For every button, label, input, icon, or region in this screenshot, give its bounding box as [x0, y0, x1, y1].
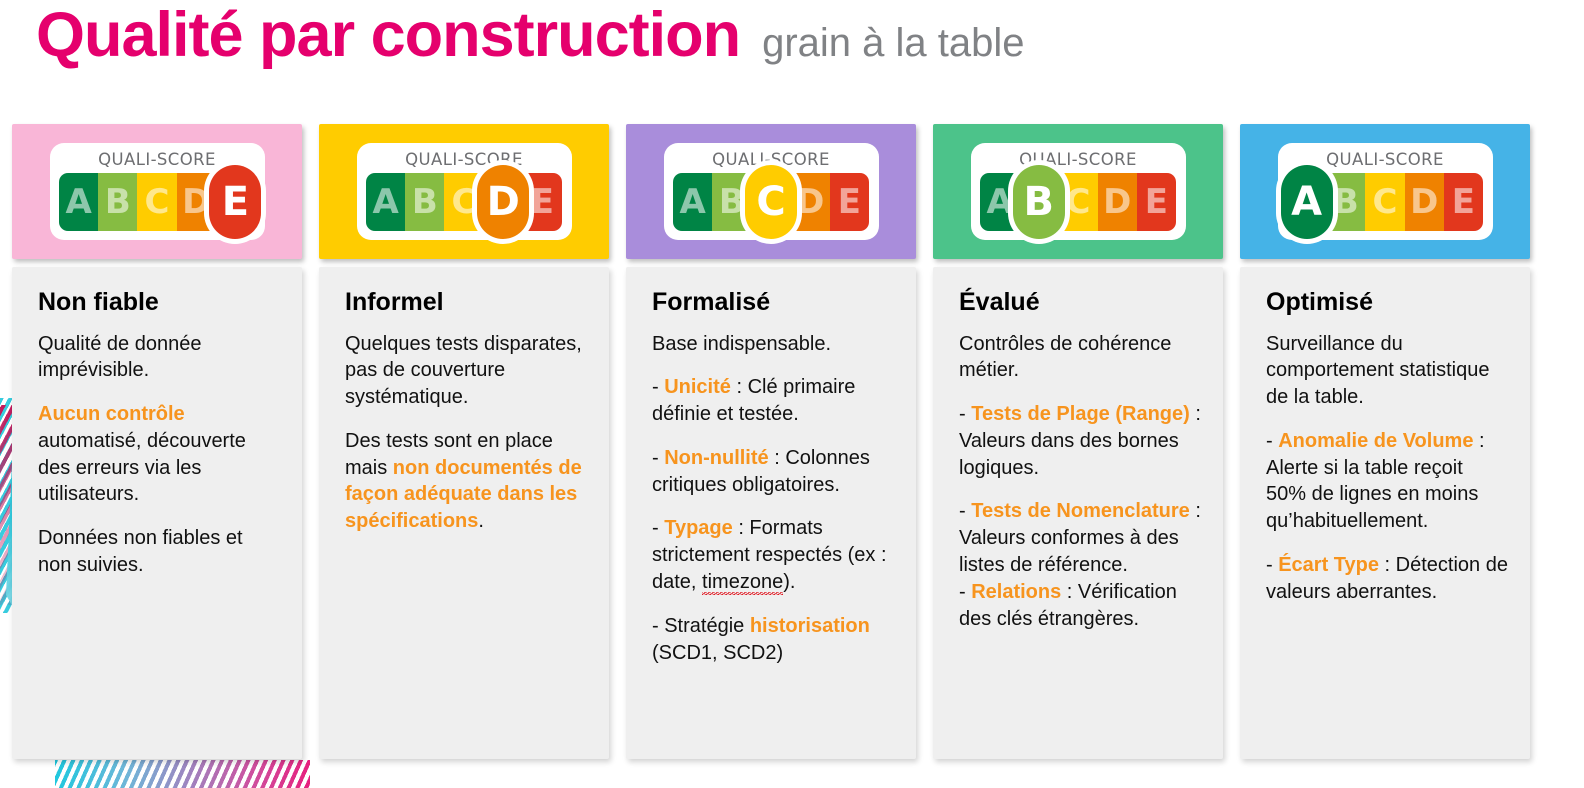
quali-score-scale-track: ABCDE [366, 173, 562, 231]
text-run: - [1266, 554, 1278, 576]
highlight-term: Unicité [664, 376, 731, 398]
quali-score-grade-e: E [830, 173, 869, 231]
quali-score-label: QUALI-SCORE [1326, 150, 1444, 169]
maturity-paragraph: Aucun contrôle automatisé, découverte de… [38, 401, 280, 508]
highlight-term: Typage [664, 517, 733, 539]
quali-score-grade-c: C [1365, 173, 1404, 231]
quali-score-grade-c: C [137, 173, 176, 231]
quali-score-grade-a: A [366, 173, 405, 231]
maturity-paragraph: - Unicité : Clé primaire définie et test… [652, 374, 894, 428]
maturity-paragraph: Des tests sont en place mais non documen… [345, 428, 587, 535]
maturity-paragraph: - Tests de Plage (Range) : Valeurs dans … [959, 401, 1201, 481]
quali-score-badge: QUALI-SCOREABCDEE [50, 143, 265, 240]
maturity-column: QUALI-SCOREABCDECFormaliséBase indispens… [626, 124, 916, 759]
quali-score-scale: ABCDEA [1287, 173, 1483, 231]
page-title: Qualité par construction grain à la tabl… [36, 2, 1025, 68]
maturity-description: Base indispensable.- Unicité : Clé prima… [652, 331, 894, 667]
maturity-paragraph: - Écart Type : Détection de valeurs aber… [1266, 552, 1508, 606]
text-run: Qualité de donnée imprévisible. [38, 333, 201, 382]
quali-score-scale: ABCDED [366, 173, 562, 231]
slide-root: Qualité par construction grain à la tabl… [0, 0, 1584, 788]
quali-score-header: QUALI-SCOREABCDEE [12, 124, 302, 259]
maturity-paragraph: - Tests de Nomenclature : Valeurs confor… [959, 498, 1201, 578]
maturity-body-card: ÉvaluéContrôles de cohérence métier.- Te… [933, 267, 1223, 759]
maturity-paragraph: Base indispensable. [652, 331, 894, 358]
maturity-columns: QUALI-SCOREABCDEENon fiableQualité de do… [12, 124, 1572, 759]
quali-score-badge: QUALI-SCOREABCDEB [971, 143, 1186, 240]
quali-score-grade-a: A [673, 173, 712, 231]
text-run: - [1266, 430, 1278, 452]
text-run: - [959, 581, 971, 603]
quali-score-grade-d: D [1098, 173, 1137, 231]
maturity-description: Qualité de donnée imprévisible.Aucun con… [38, 331, 280, 579]
maturity-level-title: Optimisé [1266, 289, 1508, 317]
text-run: Quelques tests disparates, pas de couver… [345, 333, 582, 409]
quali-score-badge: QUALI-SCOREABCDEC [664, 143, 879, 240]
quali-score-label: QUALI-SCORE [98, 150, 216, 169]
highlight-term: Tests de Nomenclature [971, 500, 1190, 522]
text-run: - [652, 447, 664, 469]
text-run: - [959, 500, 971, 522]
maturity-paragraph: Quelques tests disparates, pas de couver… [345, 331, 587, 411]
maturity-column: QUALI-SCOREABCDEAOptimiséSurveillance du… [1240, 124, 1530, 759]
maturity-paragraph: - Anomalie de Volume : Alerte si la tabl… [1266, 428, 1508, 535]
page-title-main: Qualité par construction [36, 2, 740, 68]
maturity-column: QUALI-SCOREABCDEDInformelQuelques tests … [319, 124, 609, 759]
highlight-term: Non-nullité [664, 447, 768, 469]
maturity-paragraph: - Non-nullité : Colonnes critiques oblig… [652, 445, 894, 499]
quali-score-header: QUALI-SCOREABCDEB [933, 124, 1223, 259]
page-title-sub: grain à la table [762, 22, 1024, 64]
text-run: Surveillance du comportement statistique… [1266, 333, 1489, 409]
text-run: Contrôles de cohérence métier. [959, 333, 1171, 382]
maturity-column: QUALI-SCOREABCDEBÉvaluéContrôles de cohé… [933, 124, 1223, 759]
text-run: Données non fiables et non suivies. [38, 527, 243, 576]
quali-score-grade-e: E [1444, 173, 1483, 231]
quali-score-highlight-b: B [1013, 165, 1065, 239]
maturity-paragraph: - Stratégie historisation (SCD1, SCD2) [652, 613, 894, 667]
maturity-paragraph: Données non fiables et non suivies. [38, 525, 280, 579]
quali-score-highlight-d: D [477, 165, 529, 239]
maturity-paragraph: Qualité de donnée imprévisible. [38, 331, 280, 385]
maturity-level-title: Formalisé [652, 289, 894, 317]
quali-score-grade-b: B [405, 173, 444, 231]
maturity-paragraph: - Typage : Formats strictement respectés… [652, 515, 894, 595]
maturity-column: QUALI-SCOREABCDEENon fiableQualité de do… [12, 124, 302, 759]
quali-score-highlight-a: A [1281, 165, 1333, 239]
quali-score-header: QUALI-SCOREABCDEC [626, 124, 916, 259]
text-run: - [652, 376, 664, 398]
maturity-paragraph: Surveillance du comportement statistique… [1266, 331, 1508, 411]
quali-score-grade-a: A [59, 173, 98, 231]
maturity-paragraph: - Relations : Vérification des clés étra… [959, 579, 1201, 633]
quali-score-scale: ABCDEC [673, 173, 869, 231]
maturity-paragraph: Contrôles de cohérence métier. [959, 331, 1201, 385]
decorative-stripes-bottom [55, 760, 310, 788]
text-run: (SCD1, SCD2) [652, 642, 783, 664]
maturity-body-card: OptimiséSurveillance du comportement sta… [1240, 267, 1530, 759]
maturity-body-card: Non fiableQualité de donnée imprévisible… [12, 267, 302, 759]
maturity-description: Quelques tests disparates, pas de couver… [345, 331, 587, 536]
highlight-term: Écart Type [1278, 554, 1379, 576]
quali-score-grade-e: E [1137, 173, 1176, 231]
quali-score-header: QUALI-SCOREABCDEA [1240, 124, 1530, 259]
text-run: - [959, 403, 971, 425]
quali-score-scale: ABCDEE [59, 173, 255, 231]
text-run: . [478, 510, 484, 532]
quali-score-badge: QUALI-SCOREABCDEA [1278, 143, 1493, 240]
text-run: ). [783, 571, 795, 593]
quali-score-header: QUALI-SCOREABCDED [319, 124, 609, 259]
maturity-level-title: Évalué [959, 289, 1201, 317]
maturity-description: Surveillance du comportement statistique… [1266, 331, 1508, 606]
text-run: - Stratégie [652, 615, 750, 637]
quali-score-grade-d: D [1405, 173, 1444, 231]
highlight-term: Anomalie de Volume [1278, 430, 1473, 452]
highlight-term: historisation [750, 615, 870, 637]
text-run: automatisé, découverte des erreurs via l… [38, 430, 246, 506]
text-run: Base indispensable. [652, 333, 831, 355]
spellcheck-word: timezone [702, 571, 783, 595]
highlight-term: Tests de Plage (Range) [971, 403, 1190, 425]
maturity-description: Contrôles de cohérence métier.- Tests de… [959, 331, 1201, 633]
highlight-term: Relations [971, 581, 1061, 603]
highlight-term: Aucun contrôle [38, 403, 185, 425]
maturity-level-title: Informel [345, 289, 587, 317]
quali-score-highlight-c: C [745, 165, 797, 239]
quali-score-scale-track: ABCDE [980, 173, 1176, 231]
quali-score-scale: ABCDEB [980, 173, 1176, 231]
text-run: - [652, 517, 664, 539]
quali-score-badge: QUALI-SCOREABCDED [357, 143, 572, 240]
quali-score-highlight-e: E [209, 165, 261, 239]
quali-score-grade-b: B [98, 173, 137, 231]
maturity-body-card: FormaliséBase indispensable.- Unicité : … [626, 267, 916, 759]
maturity-body-card: InformelQuelques tests disparates, pas d… [319, 267, 609, 759]
maturity-level-title: Non fiable [38, 289, 280, 317]
